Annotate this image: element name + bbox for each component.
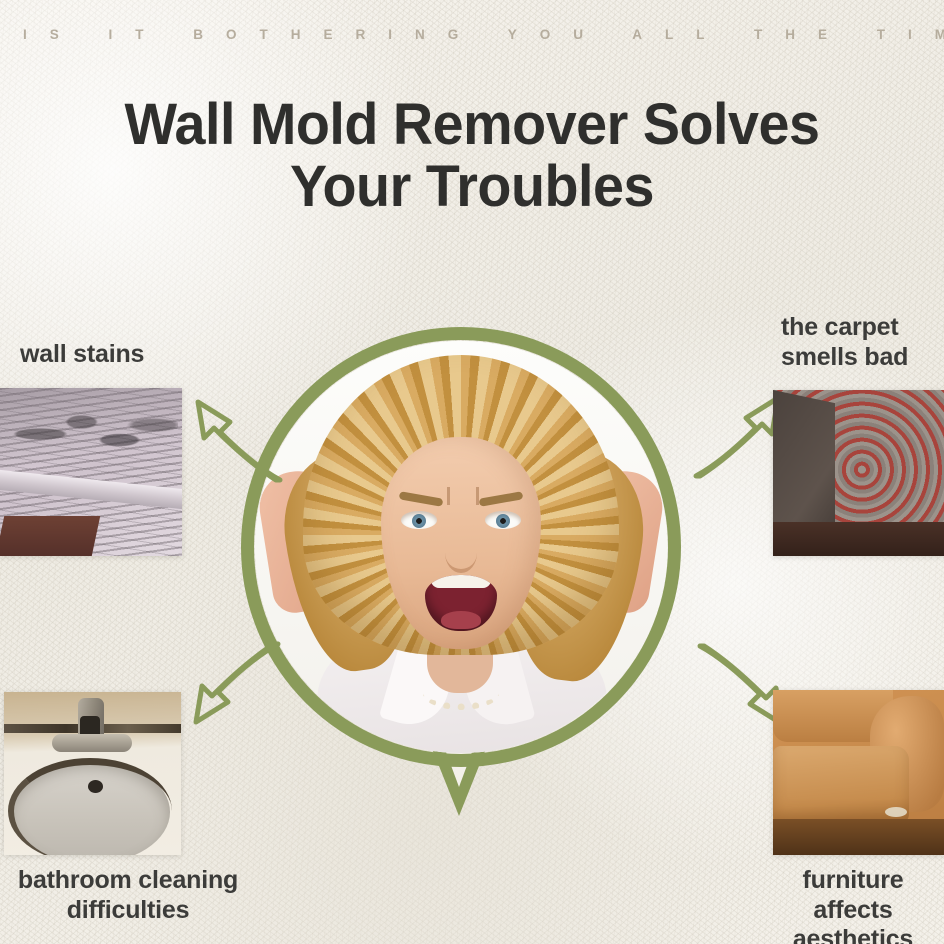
caption-line: smells bad — [781, 343, 944, 373]
page-title: Wall Mold Remover Solves Your Troubles — [57, 94, 886, 218]
caption-line: bathroom cleaning — [6, 866, 250, 896]
pearl-necklace — [423, 677, 499, 710]
moldy-wall-photo — [0, 388, 182, 556]
arrow-up-left-icon — [186, 396, 282, 482]
moldy-sofa-photo — [773, 690, 944, 855]
caption-bathroom-cleaning: bathroom cleaning difficulties — [6, 866, 250, 925]
caption-line: affects aesthetics — [762, 896, 944, 944]
frustrated-woman-photo — [255, 341, 667, 753]
caption-line: furniture — [762, 866, 944, 896]
moldy-carpet-photo — [773, 390, 944, 556]
moldy-sink-photo — [4, 692, 181, 855]
caption-line: difficulties — [6, 896, 250, 926]
promo-poster: IS IT BOTHERING YOU ALL THE TIME Wall Mo… — [0, 0, 944, 944]
caption-wall-stains: wall stains — [20, 340, 144, 370]
caption-furniture-aesthetics: furniture affects aesthetics — [762, 866, 944, 944]
center-speech-bubble — [241, 327, 703, 817]
caption-carpet-smell: the carpet smells bad — [781, 313, 944, 372]
caption-line: the carpet — [781, 313, 944, 343]
kicker-text: IS IT BOTHERING YOU ALL THE TIME — [0, 27, 944, 42]
caption-line: wall stains — [20, 340, 144, 370]
arrow-down-left-icon — [186, 642, 282, 728]
woman-open-mouth — [425, 575, 497, 631]
